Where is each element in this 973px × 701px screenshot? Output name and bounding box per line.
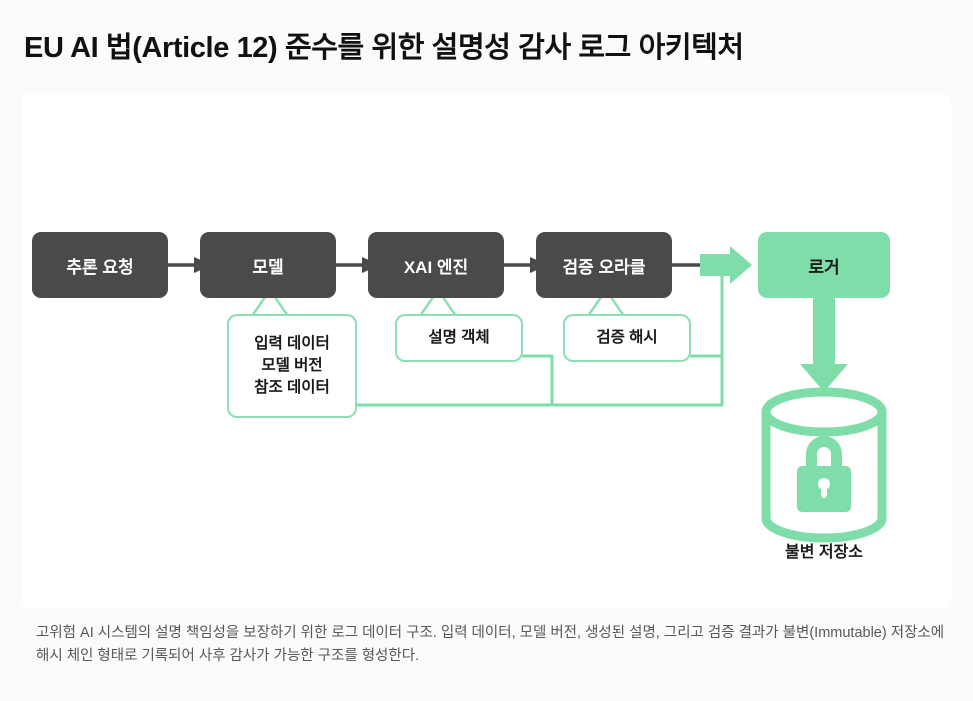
callout-input-data[interactable]: 입력 데이터 모델 버전 참조 데이터 bbox=[227, 314, 357, 418]
node-logger[interactable]: 로거 bbox=[758, 232, 890, 298]
figure-caption: 고위험 AI 시스템의 설명 책임성을 보장하기 위한 로그 데이터 구조. 입… bbox=[36, 622, 946, 669]
callout-explanation-object[interactable]: 설명 객체 bbox=[395, 314, 523, 362]
slide-page: EU AI 법(Article 12) 준수를 위한 설명성 감사 로그 아키텍… bbox=[0, 0, 973, 701]
callout-line: 참조 데이터 bbox=[254, 377, 330, 399]
callout-line: 모델 버전 bbox=[261, 355, 322, 377]
node-label: 로거 bbox=[808, 253, 839, 278]
page-title: EU AI 법(Article 12) 준수를 위한 설명성 감사 로그 아키텍… bbox=[24, 24, 944, 66]
node-label: XAI 엔진 bbox=[404, 253, 468, 278]
node-model[interactable]: 모델 bbox=[200, 232, 336, 298]
diagram-card: 추론 요청 모델 XAI 엔진 검증 오라클 로거 입력 데이터 모델 버전 참… bbox=[22, 94, 951, 608]
node-verification-oracle[interactable]: 검증 오라클 bbox=[536, 232, 672, 298]
callout-verification-hash[interactable]: 검증 해시 bbox=[563, 314, 691, 362]
lock-glyph-icon bbox=[797, 436, 851, 512]
node-xai-engine[interactable]: XAI 엔진 bbox=[368, 232, 504, 298]
callout-line: 입력 데이터 bbox=[254, 333, 330, 355]
node-label: 검증 오라클 bbox=[563, 253, 646, 278]
node-inference-request[interactable]: 추론 요청 bbox=[32, 232, 168, 298]
node-label: 추론 요청 bbox=[66, 253, 133, 278]
immutable-store-label: 불변 저장소 bbox=[734, 538, 914, 562]
architecture-diagram: 추론 요청 모델 XAI 엔진 검증 오라클 로거 입력 데이터 모델 버전 참… bbox=[22, 94, 951, 608]
callout-line: 검증 해시 bbox=[596, 327, 657, 349]
logger-inbound-arrow bbox=[700, 246, 752, 284]
node-label: 모델 bbox=[252, 253, 283, 278]
callout-line: 설명 객체 bbox=[428, 327, 489, 349]
database-lock-icon bbox=[766, 392, 882, 538]
storage-inbound-arrow bbox=[800, 297, 848, 392]
